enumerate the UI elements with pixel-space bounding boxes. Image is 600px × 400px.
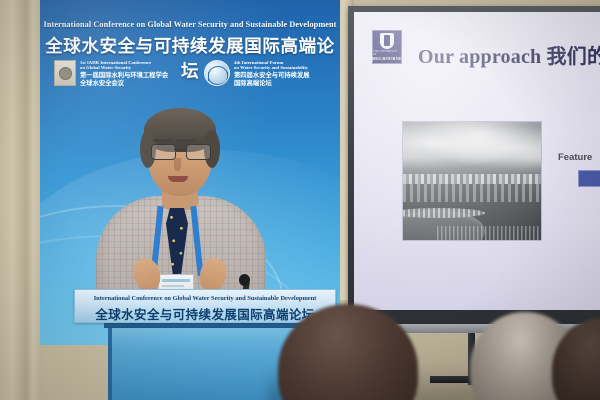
backdrop-logo-row: 1st IAHR International Conference on Glo…	[54, 60, 334, 100]
photo-reeds	[437, 226, 541, 240]
logo-iahr-cn-line1: 第一届国际水利与环境工程学会	[80, 72, 168, 80]
podium-sign: International Conference on Global Water…	[74, 289, 336, 323]
microphone-icon	[239, 274, 250, 286]
conference-photo-scene: International Conference on Global Water…	[0, 0, 600, 400]
photo-treeline	[403, 174, 541, 184]
speaker	[96, 108, 266, 308]
melbourne-crest-icon	[380, 33, 394, 49]
slide-photo-wetland	[402, 121, 542, 241]
logo-forum-en-line2: on Water Security and Sustainability	[234, 65, 310, 70]
photo-water-reflection	[403, 184, 541, 202]
speaker-nose	[174, 158, 181, 171]
melbourne-institution-name: MELBOURNE	[372, 56, 402, 61]
logo-text-iahr: 1st IAHR International Conference on Glo…	[80, 60, 168, 88]
speaker-eyebrow-left	[153, 139, 173, 142]
backdrop-title-english: International Conference on Global Water…	[40, 20, 340, 29]
iahr-emblem-icon	[54, 60, 76, 86]
slide-feature-swatch	[578, 170, 600, 187]
room-wall-left	[0, 0, 42, 400]
podium-sign-english: International Conference on Global Water…	[75, 295, 335, 302]
slide-feature-label: Feature	[558, 152, 592, 163]
logo-forum-cn-line2: 国际高端论坛	[234, 80, 310, 88]
university-of-melbourne-logo-icon: THE UNIVERSITY OF MELBOURNE	[372, 30, 402, 64]
logo-forum-cn-line1: 第四届水安全与可持续发展	[234, 72, 310, 80]
logo-block-forum: 4th International Forum on Water Securit…	[204, 60, 310, 88]
logo-text-forum: 4th International Forum on Water Securit…	[234, 60, 310, 88]
speaker-eyebrow-right	[176, 139, 196, 142]
logo-iahr-en-line2: on Global Water Security	[80, 65, 168, 70]
globe-emblem-icon	[204, 60, 230, 86]
speaker-mouth	[168, 176, 188, 182]
photo-clouds	[403, 122, 541, 174]
podium-sign-chinese: 全球水安全与可持续发展国际高端论坛	[75, 304, 335, 323]
eyeglasses-icon	[151, 144, 209, 159]
logo-block-iahr: 1st IAHR International Conference on Glo…	[54, 60, 168, 88]
slide-title: Our approach 我们的	[418, 40, 600, 69]
logo-iahr-cn-line2: 全球水安全会议	[80, 80, 168, 88]
